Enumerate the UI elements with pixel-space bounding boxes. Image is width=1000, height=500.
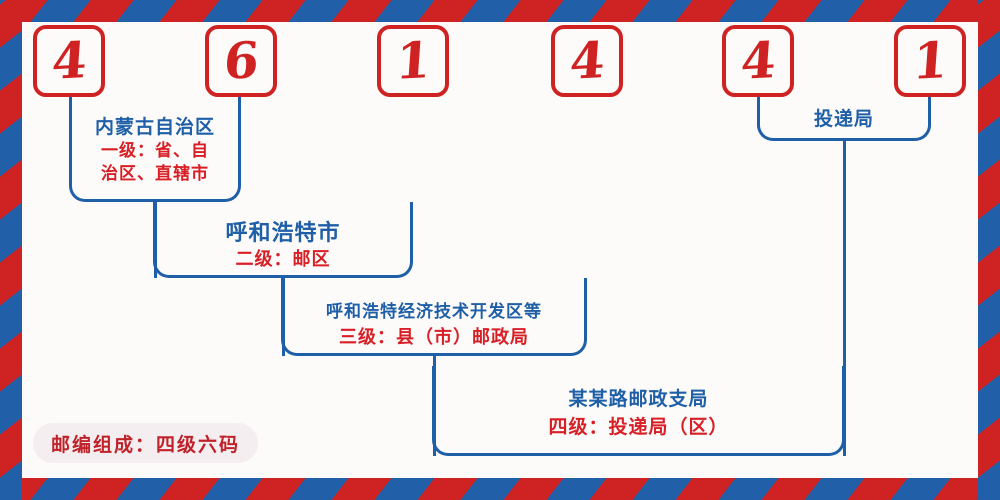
postcode-digit-3-glyph: 1 xyxy=(394,35,432,87)
postcode-digit-4-glyph: 4 xyxy=(568,35,606,87)
postcode-digit-6-glyph: 1 xyxy=(911,35,949,87)
envelope-diagram: 4 6 1 4 4 1 内蒙古自治区 一级：省、自 治区、直辖市 呼和浩特市 二… xyxy=(0,0,1000,500)
level-2-label: 呼和浩特市 二级：邮区 xyxy=(153,218,413,272)
envelope-border-right xyxy=(978,0,1000,500)
postcode-digit-3[interactable]: 1 xyxy=(377,25,449,97)
postcode-digit-6[interactable]: 1 xyxy=(894,25,966,97)
postcode-digit-4[interactable]: 4 xyxy=(551,25,623,97)
postcode-digit-5[interactable]: 4 xyxy=(722,25,794,97)
postcode-digit-1[interactable]: 4 xyxy=(33,25,105,97)
envelope-border-bottom xyxy=(0,478,1000,500)
postcode-composition-badge: 邮编组成：四级六码 xyxy=(33,423,258,463)
level-1-label: 内蒙古自治区 一级：省、自 治区、直辖市 xyxy=(69,114,241,186)
postcode-digit-2[interactable]: 6 xyxy=(205,25,277,97)
level-2-name: 呼和浩特市 xyxy=(153,218,413,248)
delivery-office-name: 投递局 xyxy=(757,106,931,132)
level-1-level-line1: 一级：省、自 xyxy=(69,140,241,163)
level-2-level: 二级：邮区 xyxy=(153,248,413,272)
level-3-level: 三级：县（市）邮政局 xyxy=(281,325,587,351)
postcode-composition-badge-text: 邮编组成：四级六码 xyxy=(51,430,240,457)
level-3-name: 呼和浩特经济技术开发区等 xyxy=(281,300,587,325)
delivery-office-label: 投递局 xyxy=(757,106,931,132)
level-4-name: 某某路邮政支局 xyxy=(432,386,845,413)
envelope-border-left xyxy=(0,0,22,500)
level-4-level: 四级：投递局（区） xyxy=(432,413,845,441)
level-1-name: 内蒙古自治区 xyxy=(69,114,241,140)
level-4-label: 某某路邮政支局 四级：投递局（区） xyxy=(432,386,845,441)
level-1-level-line2: 治区、直辖市 xyxy=(69,163,241,186)
envelope-border-top xyxy=(0,0,1000,22)
level-3-label: 呼和浩特经济技术开发区等 三级：县（市）邮政局 xyxy=(281,300,587,351)
postcode-digit-2-glyph: 6 xyxy=(222,35,260,87)
postcode-digit-5-glyph: 4 xyxy=(739,35,777,87)
postcode-digit-1-glyph: 4 xyxy=(50,35,88,87)
